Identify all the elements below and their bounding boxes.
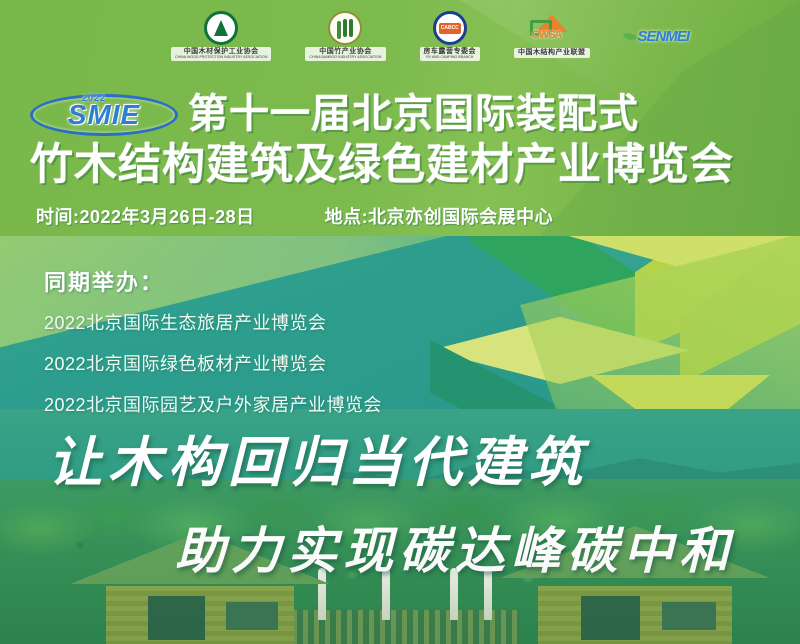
logo-cabcc-rv-camping: CABCC 房车露营专委会 RV AND CAMPING BRANCH [420, 11, 481, 60]
concurrent-events-block: 同期举办： 2022北京国际生态旅居产业博览会 2022北京国际绿色板材产业博览… [44, 265, 382, 432]
house-emblem-icon: CWSA [528, 14, 576, 46]
logo-senmei: SENMEI [624, 28, 690, 45]
poster-title-block: 2022 SMIE 第十一届北京国际装配式 竹木结构建筑及绿色建材产业博览会 [0, 92, 800, 188]
smie-logo: 2022 SMIE [30, 92, 178, 138]
page-title-line1: 第十一届北京国际装配式 [188, 93, 639, 136]
logo-caption: 房车露营专委会 RV AND CAMPING BRANCH [420, 47, 481, 60]
organizer-logo-strip: 中国木材保护工业协会 CHINA WOOD PROTECTION INDUSTR… [0, 0, 800, 72]
logo-cwsa-wood-structure: CWSA 中国木结构产业联盟 [514, 14, 590, 57]
concurrent-event-item: 2022北京国际园艺及户外家居产业博览会 [44, 391, 382, 417]
event-date: 时间:2022年3月26日-28日 [36, 203, 255, 229]
logo-caption: 中国木材保护工业协会 CHINA WOOD PROTECTION INDUSTR… [171, 47, 271, 60]
page-title-line2: 竹木结构建筑及绿色建材产业博览会 [30, 142, 800, 188]
logo-china-wood-protection: 中国木材保护工业协会 CHINA WOOD PROTECTION INDUSTR… [171, 11, 271, 60]
event-venue: 地点:北京亦创国际会展中心 [325, 203, 554, 229]
logo-caption: 中国木结构产业联盟 [514, 48, 590, 57]
logo-caption: 中国竹产业协会 CHINA BAMBOO INDUSTRY ASSOCIATIO… [305, 47, 385, 60]
smie-logo-acronym: SMIE [30, 92, 178, 138]
slogan-block: 让木构回归当代建筑 助力实现碳达峰碳中和 [0, 418, 800, 583]
tree-emblem-icon [204, 11, 238, 45]
logo-bamboo-association: 中国竹产业协会 CHINA BAMBOO INDUSTRY ASSOCIATIO… [305, 11, 385, 60]
senmei-leaf-icon: SENMEI [624, 28, 690, 45]
concurrent-event-item: 2022北京国际绿色板材产业博览会 [44, 350, 382, 376]
slogan-line2: 助力实现碳达峰碳中和 [0, 511, 800, 583]
concurrent-events-heading: 同期举办： [44, 265, 382, 297]
cabcc-emblem-icon: CABCC [433, 11, 467, 45]
bamboo-emblem-icon [328, 11, 362, 45]
slogan-line1: 让木构回归当代建筑 [0, 418, 800, 497]
exhibition-poster: 中国木材保护工业协会 CHINA WOOD PROTECTION INDUSTR… [0, 0, 800, 644]
event-meta: 时间:2022年3月26日-28日 地点:北京亦创国际会展中心 [36, 203, 553, 229]
concurrent-event-item: 2022北京国际生态旅居产业博览会 [44, 309, 382, 335]
